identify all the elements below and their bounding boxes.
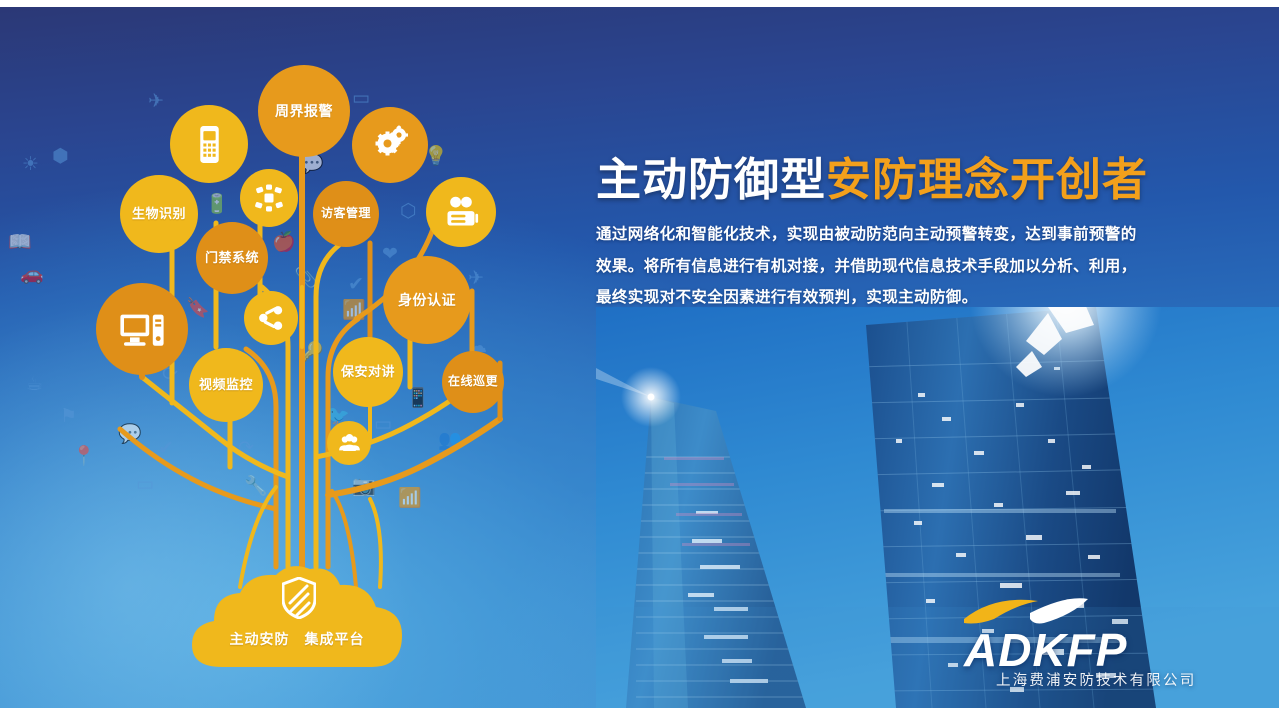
headline-orange: 安防理念开创者	[826, 154, 1148, 205]
body-line-2: 效果。将所有信息进行有机对接，并借助现代信息技术手段加以分析、利用，	[596, 251, 1226, 282]
tree-node-workstation[interactable]	[96, 283, 188, 375]
watermark-icon-8: 📖	[8, 233, 32, 252]
logo-tagline: 上海费浦安防技术有限公司	[996, 669, 1196, 690]
body-copy: 通过网络化和智能化技术，实现由被动防范向主动预警转变，达到事前预警的 效果。将所…	[596, 219, 1226, 313]
bottom-white-margin	[0, 708, 1279, 720]
people-group-icon	[338, 432, 361, 455]
tree-node-people-group[interactable]	[327, 421, 371, 465]
tree-node-share-network[interactable]	[244, 291, 298, 345]
body-line-1: 通过网络化和智能化技术，实现由被动防范向主动预警转变，达到事前预警的	[596, 219, 1226, 250]
tree-node-label-visitor-management: 访客管理	[321, 207, 371, 221]
tree-node-video-surveillance[interactable]: 视频监控	[189, 348, 263, 422]
sensor-node-icon	[254, 183, 284, 213]
tree-node-gears[interactable]	[352, 107, 428, 183]
top-white-margin	[0, 0, 1279, 7]
tree-node-security-intercom[interactable]: 保安对讲	[333, 337, 403, 407]
cloud-platform-label: 主动安防 集成平台	[186, 629, 408, 649]
shield-icon	[282, 577, 316, 619]
watermark-icon-1: ⬢	[52, 147, 69, 166]
watermark-icon-0: ☀	[22, 155, 39, 174]
tree-node-sensors[interactable]	[240, 169, 298, 227]
desktop-computer-icon	[118, 305, 166, 353]
company-logo[interactable]: ADKFP 上海费浦安防技术有限公司	[960, 593, 1210, 693]
mobile-phone-icon	[189, 124, 230, 165]
cloud-platform[interactable]: 主动安防 集成平台	[186, 563, 408, 673]
tree-node-label-biometrics: 生物识别	[132, 207, 186, 222]
share-nodes-icon	[257, 304, 285, 332]
watermark-icon-34: ☕	[26, 375, 43, 394]
banner-artwork: ☀⬢✈▭⟳💬💡🔋📖📍🍎⬡🚗📎❤✔✈🔖📶🔑☁⟳📱⬡▭👥💬✔⟳▭🔧🐦📷📶☕⚑📍	[0, 7, 1279, 708]
gears-icon	[370, 125, 410, 165]
headline-white: 主动防御型	[596, 154, 826, 205]
tree-node-access-control[interactable]: 门禁系统	[196, 222, 268, 294]
tree-node-mobile-phone[interactable]	[170, 105, 248, 183]
tree-node-perimeter-alarm[interactable]: 周界报警	[258, 65, 350, 157]
tree-node-label-video-surveillance: 视频监控	[199, 378, 253, 393]
poster-canvas: ☀⬢✈▭⟳💬💡🔋📖📍🍎⬡🚗📎❤✔✈🔖📶🔑☁⟳📱⬡▭👥💬✔⟳▭🔧🐦📷📶☕⚑📍	[0, 0, 1279, 720]
tree-node-id-card-reader[interactable]	[426, 177, 496, 247]
tree-node-label-perimeter-alarm: 周界报警	[275, 103, 333, 119]
tree-node-biometrics[interactable]: 生物识别	[120, 175, 198, 253]
page-title: 主动防御型安防理念开创者	[596, 155, 1226, 205]
tree-node-label-access-control: 门禁系统	[205, 251, 259, 266]
tree-node-label-online-patrol: 在线巡更	[448, 375, 498, 389]
tree-node-online-patrol[interactable]: 在线巡更	[442, 351, 504, 413]
tree-node-label-security-intercom: 保安对讲	[341, 365, 395, 380]
watermark-icon-35: ⚑	[60, 407, 77, 426]
tree-node-identity-auth[interactable]: 身份认证	[383, 256, 471, 344]
copy-column: 主动防御型安防理念开创者 通过网络化和智能化技术，实现由被动防范向主动预警转变，…	[596, 155, 1226, 314]
tree-node-label-identity-auth: 身份认证	[398, 292, 456, 308]
tree-node-visitor-management[interactable]: 访客管理	[313, 181, 379, 247]
id-card-icon	[443, 194, 479, 230]
body-line-3: 最终实现对不安全因素进行有效预判，实现主动防御。	[596, 282, 1226, 313]
watermark-icon-12: 🚗	[20, 265, 44, 284]
